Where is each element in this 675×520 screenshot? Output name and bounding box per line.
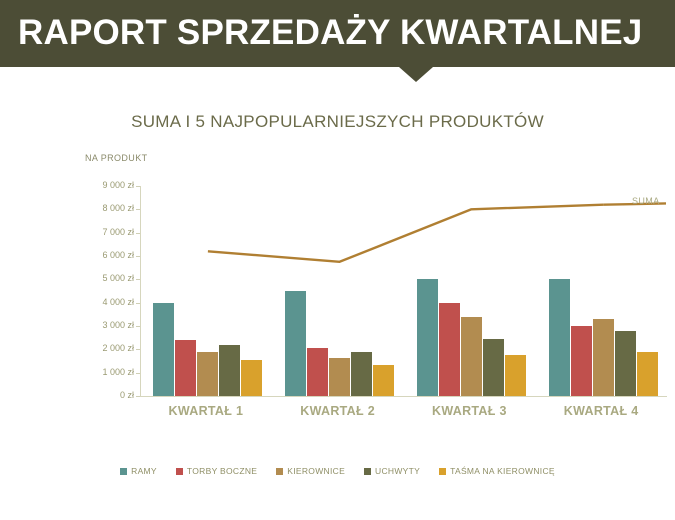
legend-label: TORBY BOCZNE (187, 466, 257, 476)
y-axis-tick-mark (136, 186, 140, 187)
legend-swatch-icon (176, 468, 183, 475)
y-axis-tick-mark (136, 279, 140, 280)
y-axis-tick-mark (136, 233, 140, 234)
y-axis-tick-label: 3 000 zł (72, 320, 134, 330)
legend-swatch-icon (276, 468, 283, 475)
legend-item[interactable]: TORBY BOCZNE (176, 466, 257, 476)
suma-line-series (140, 186, 667, 396)
y-axis-tick-mark (136, 256, 140, 257)
y-axis-tick-mark (136, 373, 140, 374)
legend-item[interactable]: UCHWYTY (364, 466, 420, 476)
legend-item[interactable]: RAMY (120, 466, 157, 476)
legend-swatch-icon (364, 468, 371, 475)
legend-swatch-icon (120, 468, 127, 475)
y-axis-tick-mark (136, 349, 140, 350)
legend-item[interactable]: TAŚMA NA KIEROWNICĘ (439, 466, 555, 476)
y-axis-tick-labels: 9 000 zł8 000 zł7 000 zł6 000 zł5 000 zł… (72, 0, 134, 520)
y-axis-tick-mark (136, 396, 140, 397)
y-axis-tick-mark (136, 326, 140, 327)
x-axis-category-label: KWARTAŁ 2 (268, 404, 408, 418)
x-axis-category-label: KWARTAŁ 1 (136, 404, 276, 418)
x-axis-category-label: KWARTAŁ 4 (531, 404, 671, 418)
y-axis-tick-label: 2 000 zł (72, 343, 134, 353)
y-axis-tick-label: 0 zł (72, 390, 134, 400)
x-axis-line (140, 396, 667, 397)
y-axis-tick-label: 4 000 zł (72, 297, 134, 307)
legend-label: KIEROWNICE (287, 466, 345, 476)
legend-label: RAMY (131, 466, 157, 476)
y-axis-tick-label: 5 000 zł (72, 273, 134, 283)
legend-item[interactable]: KIEROWNICE (276, 466, 345, 476)
legend-label: TAŚMA NA KIEROWNICĘ (450, 466, 555, 476)
legend-swatch-icon (439, 468, 446, 475)
y-axis-tick-mark (136, 209, 140, 210)
y-axis-tick-label: 6 000 zł (72, 250, 134, 260)
legend-label: UCHWYTY (375, 466, 420, 476)
sales-chart: NA PRODUKT 9 000 zł8 000 zł7 000 zł6 000… (0, 0, 675, 520)
y-axis-tick-label: 1 000 zł (72, 367, 134, 377)
y-axis-tick-label: 7 000 zł (72, 227, 134, 237)
chart-legend: RAMYTORBY BOCZNEKIEROWNICEUCHWYTYTAŚMA N… (0, 466, 675, 476)
suma-line-label: SUMA (632, 196, 660, 206)
y-axis-tick-mark (136, 303, 140, 304)
y-axis-tick-label: 9 000 zł (72, 180, 134, 190)
x-axis-category-label: KWARTAŁ 3 (399, 404, 539, 418)
suma-line-path (208, 205, 603, 262)
plot-area (140, 186, 667, 396)
y-axis-tick-label: 8 000 zł (72, 203, 134, 213)
